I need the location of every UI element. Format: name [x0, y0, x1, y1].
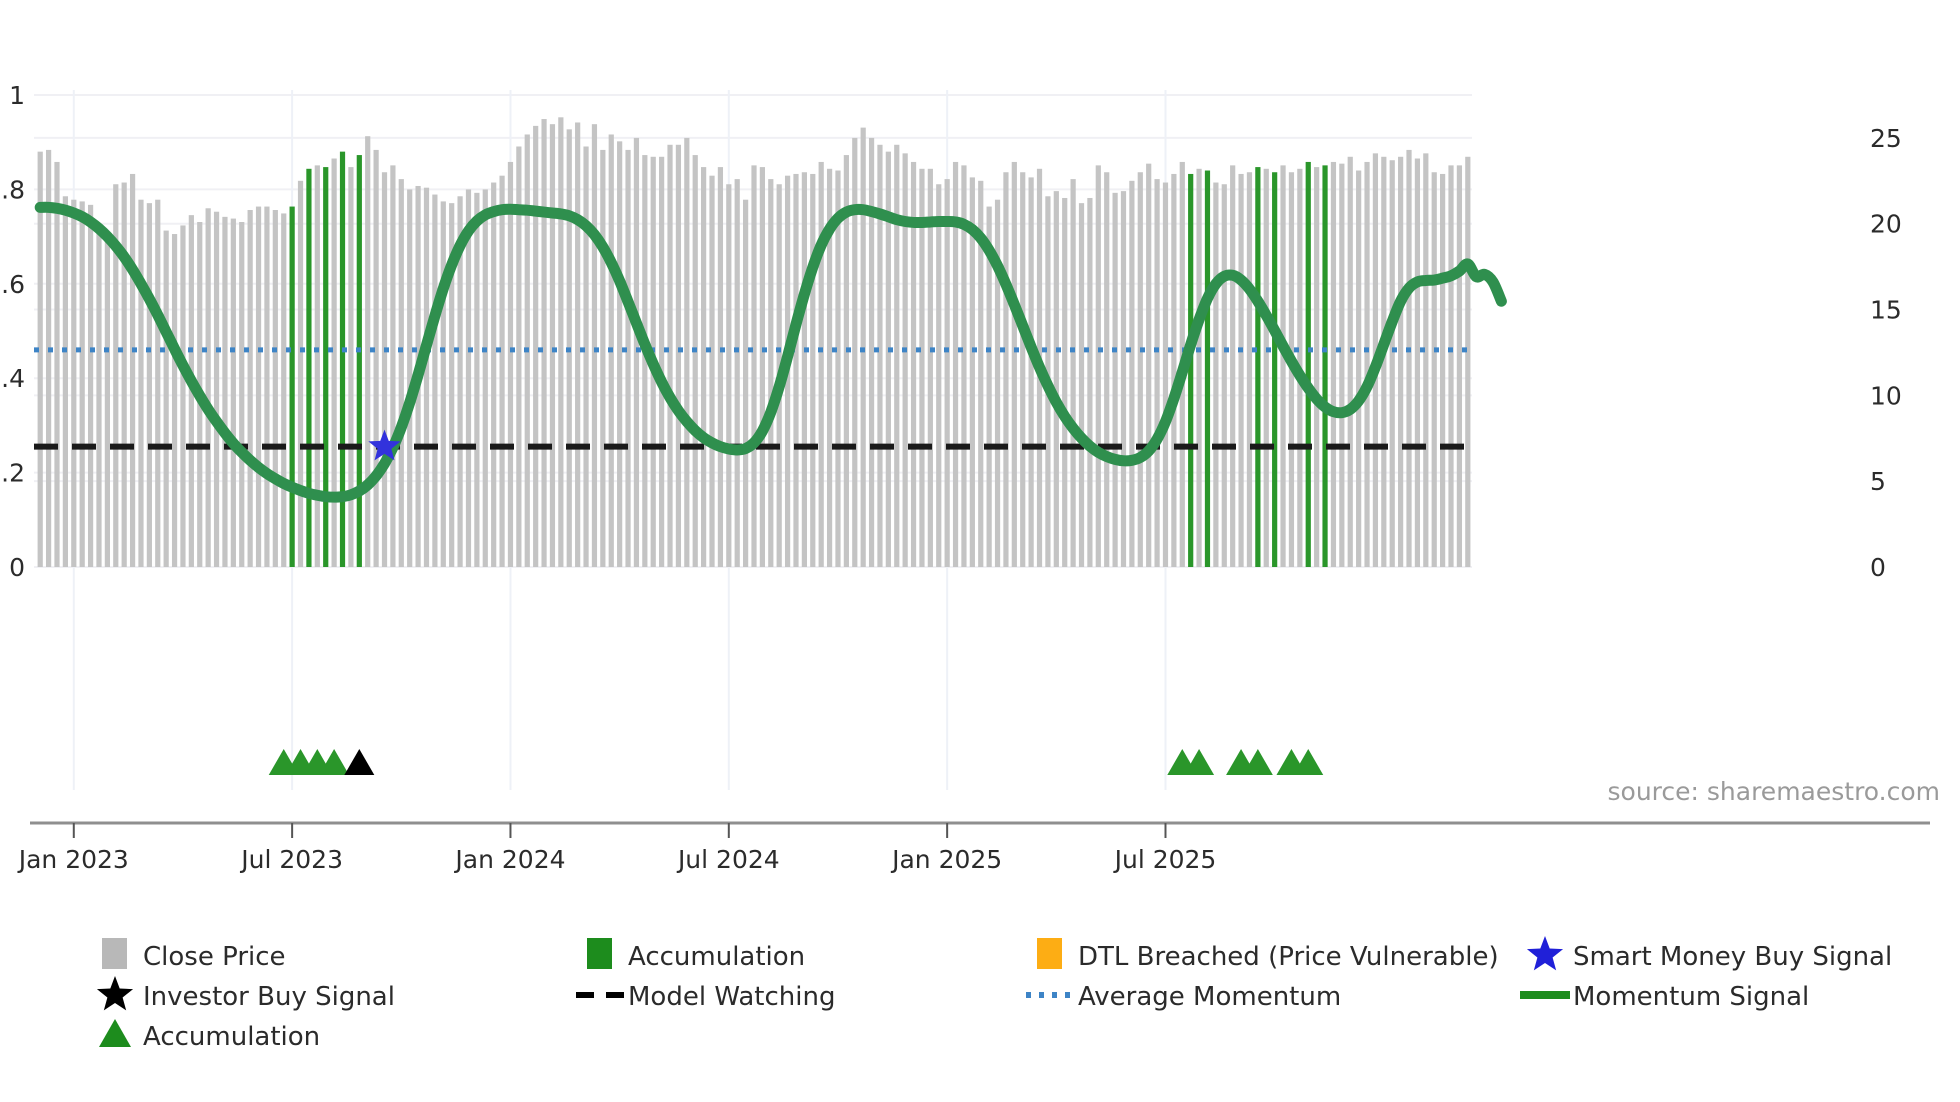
close-price-bar: [1230, 165, 1235, 567]
close-price-bar: [1280, 165, 1285, 567]
close-price-bar: [1129, 181, 1134, 567]
close-price-bar: [575, 122, 580, 567]
legend-square-icon: [587, 938, 612, 969]
close-price-bar: [743, 200, 748, 567]
close-price-bar: [1146, 164, 1151, 567]
close-price-bar: [1222, 184, 1227, 567]
close-price-bar: [852, 138, 857, 567]
close-price-bar: [231, 219, 236, 567]
close-price-bar: [315, 165, 320, 567]
close-price-bar: [1138, 172, 1143, 567]
close-price-bar: [138, 200, 143, 567]
close-price-bar: [164, 231, 169, 567]
close-price-bar: [1104, 172, 1109, 567]
close-price-bar: [130, 174, 135, 567]
close-price-bar: [1163, 183, 1168, 567]
right-axis: 0510152025: [1870, 124, 1902, 582]
legend-item-label: Average Momentum: [1078, 982, 1341, 1012]
accumulation-bar: [1272, 172, 1277, 567]
close-price-bar: [1238, 174, 1243, 567]
left-axis: 00.20.40.60.81: [0, 81, 25, 582]
close-price-bar: [718, 167, 723, 567]
close-price-bar: [1440, 174, 1445, 567]
accumulation-bar: [1306, 162, 1311, 567]
legend-item-label: DTL Breached (Price Vulnerable): [1078, 942, 1499, 972]
legend-item[interactable]: Investor Buy Signal: [97, 976, 395, 1012]
legend-item-label: Accumulation: [628, 942, 805, 972]
legend-star-icon: [97, 976, 133, 1010]
close-price-bar: [583, 146, 588, 567]
close-price-bar: [1398, 157, 1403, 567]
investor-buy-signal-triangle: [344, 749, 374, 775]
accumulation-bar: [340, 152, 345, 567]
close-price-bar: [861, 128, 866, 567]
close-price-bar: [332, 159, 337, 567]
close-price-bar: [1314, 167, 1319, 567]
close-price-bar: [1247, 172, 1252, 567]
legend-item-label: Close Price: [143, 942, 286, 972]
close-price-bar: [80, 201, 85, 567]
legend-item[interactable]: Accumulation: [99, 1019, 320, 1052]
close-price-bar: [374, 150, 379, 567]
close-price-bar: [735, 179, 740, 567]
close-price-bar: [466, 189, 471, 567]
close-price-bar: [1423, 153, 1428, 567]
close-price-bar: [558, 117, 563, 567]
left-axis-tick-label: 0.2: [0, 459, 25, 488]
close-price-bar: [382, 172, 387, 567]
close-price-bar: [155, 200, 160, 567]
x-axis-tick-label: Jul 2023: [239, 845, 343, 874]
close-price-bar: [1432, 172, 1437, 567]
close-price-bar: [617, 141, 622, 567]
close-price-bar: [659, 157, 664, 567]
close-price-bar: [768, 179, 773, 567]
close-price-bar: [180, 225, 185, 567]
close-price-bar: [793, 174, 798, 567]
close-price-bar: [625, 150, 630, 567]
close-price-bar: [1457, 165, 1462, 567]
legend-item-label: Momentum Signal: [1573, 982, 1809, 1012]
close-price-bar: [903, 153, 908, 567]
close-price-bar: [390, 165, 395, 567]
close-price-bar: [264, 207, 269, 567]
close-price-bar: [1154, 179, 1159, 567]
x-axis-tick-label: Jan 2024: [453, 845, 565, 874]
right-axis-tick-label: 10: [1870, 381, 1902, 410]
accumulation-bar: [1205, 171, 1210, 567]
close-price-bar: [348, 167, 353, 567]
close-price-bar: [1356, 171, 1361, 567]
legend-item-label: Model Watching: [628, 982, 835, 1012]
right-axis-tick-label: 20: [1870, 210, 1902, 239]
close-price-bar: [38, 152, 43, 567]
close-price-bar: [63, 196, 68, 567]
close-price-bar: [945, 179, 950, 567]
close-price-bar: [239, 222, 244, 567]
legend-square-icon: [102, 938, 127, 969]
close-price-bar: [1113, 193, 1118, 567]
momentum-chart: 00.20.40.60.810510152025source: sharemae…: [0, 0, 1960, 1102]
x-axis-tick-label: Jul 2025: [1113, 845, 1217, 874]
close-price-bar: [1415, 159, 1420, 567]
close-price-bar: [147, 203, 152, 567]
close-price-bar: [424, 188, 429, 567]
close-price-bar: [281, 213, 286, 567]
accumulation-bar: [1188, 174, 1193, 567]
close-price-bar: [399, 179, 404, 567]
legend-item[interactable]: Smart Money Buy Signal: [1527, 936, 1892, 972]
close-price-bar: [676, 145, 681, 567]
accumulation-bar: [323, 167, 328, 567]
close-price-bar: [1264, 169, 1269, 567]
accumulation-bar: [306, 169, 311, 567]
accumulation-bar: [290, 207, 295, 567]
close-price-bar: [726, 184, 731, 567]
close-price-bar: [1213, 183, 1218, 567]
close-price-bar: [751, 165, 756, 567]
right-axis-tick-label: 15: [1870, 296, 1902, 325]
close-price-bar: [105, 232, 110, 567]
source-note: source: sharemaestro.com: [1608, 777, 1941, 806]
close-price-bar: [88, 205, 93, 567]
close-price-bar: [810, 174, 815, 567]
close-price-bar: [709, 176, 714, 567]
close-price-bar: [491, 183, 496, 567]
close-price-bar: [256, 207, 261, 567]
close-price-bars: [38, 117, 1471, 567]
close-price-bar: [273, 210, 278, 567]
close-price-bar: [1390, 160, 1395, 567]
close-price-bar: [1062, 198, 1067, 567]
accumulation-bar: [1322, 165, 1327, 567]
close-price-bar: [298, 181, 303, 567]
close-price-bar: [684, 138, 689, 567]
close-price-bar: [222, 217, 227, 567]
legend-item[interactable]: Model Watching: [576, 982, 835, 1012]
close-price-bar: [1339, 164, 1344, 567]
close-price-bar: [508, 162, 513, 567]
x-axis-tick-label: Jul 2024: [676, 845, 780, 874]
close-price-bar: [206, 208, 211, 567]
left-axis-tick-label: 0.4: [0, 364, 25, 393]
chart-canvas: 00.20.40.60.810510152025source: sharemae…: [0, 0, 1960, 1102]
close-price-bar: [1364, 162, 1369, 567]
close-price-bar: [802, 172, 807, 567]
close-price-bar: [1071, 179, 1076, 567]
left-axis-tick-label: 0.6: [0, 270, 25, 299]
close-price-bar: [1003, 172, 1008, 567]
close-price-bar: [1096, 165, 1101, 567]
close-price-bar: [1079, 203, 1084, 567]
legend-item-label: Smart Money Buy Signal: [1573, 942, 1892, 972]
x-axis: Jan 2023Jul 2023Jan 2024Jul 2024Jan 2025…: [17, 823, 1217, 874]
close-price-bar: [1054, 191, 1059, 567]
close-price-bar: [441, 201, 446, 567]
close-price-bar: [1331, 162, 1336, 567]
close-price-bar: [701, 167, 706, 567]
legend-item[interactable]: Accumulation: [587, 938, 805, 972]
legend-item[interactable]: DTL Breached (Price Vulnerable): [1037, 938, 1499, 972]
close-price-bar: [667, 145, 672, 567]
close-price-bar: [432, 195, 437, 567]
legend-square-icon: [1037, 938, 1062, 969]
accumulation-bar: [1255, 167, 1260, 567]
close-price-bar: [1012, 162, 1017, 567]
legend-item-label: Accumulation: [143, 1022, 320, 1052]
close-price-bar: [693, 155, 698, 567]
legend-item[interactable]: Average Momentum: [1026, 982, 1341, 1012]
right-axis-tick-label: 0: [1870, 553, 1886, 582]
close-price-bar: [1348, 157, 1353, 567]
right-axis-tick-label: 25: [1870, 124, 1902, 153]
close-price-bar: [1406, 150, 1411, 567]
close-price-bar: [550, 124, 555, 567]
close-price-bar: [483, 189, 488, 567]
close-price-bar: [1121, 191, 1126, 567]
right-axis-tick-label: 5: [1870, 467, 1886, 496]
close-price-bar: [214, 212, 219, 567]
close-price-bar: [122, 183, 127, 567]
close-price-bar: [760, 167, 765, 567]
close-price-bar: [71, 200, 76, 567]
close-price-bar: [919, 169, 924, 567]
left-axis-tick-label: 1: [9, 81, 25, 110]
close-price-bar: [835, 171, 840, 567]
close-price-bar: [928, 169, 933, 567]
close-price-bar: [819, 162, 824, 567]
close-price-bar: [1020, 172, 1025, 567]
close-price-bar: [1029, 177, 1034, 567]
close-price-bar: [172, 234, 177, 567]
left-axis-tick-label: 0: [9, 553, 25, 582]
close-price-bar: [600, 150, 605, 567]
close-price-bar: [936, 184, 941, 567]
close-price-bar: [54, 162, 59, 567]
left-axis-tick-label: 0.8: [0, 175, 25, 204]
close-price-bar: [869, 138, 874, 567]
legend-item[interactable]: Close Price: [102, 938, 286, 972]
close-price-bar: [894, 145, 899, 567]
close-price-bar: [541, 119, 546, 567]
accumulation-bar: [357, 155, 362, 567]
legend-triangle-icon: [99, 1019, 131, 1047]
close-price-bar: [634, 138, 639, 567]
legend: Close PriceAccumulationDTL Breached (Pri…: [97, 936, 1892, 1052]
close-price-bar: [533, 126, 538, 567]
x-axis-tick-label: Jan 2025: [890, 845, 1002, 874]
legend-item[interactable]: Momentum Signal: [1520, 982, 1809, 1012]
close-price-bar: [474, 193, 479, 567]
close-price-bar: [248, 210, 253, 567]
close-price-bar: [1196, 169, 1201, 567]
close-price-bar: [365, 136, 370, 567]
x-axis-tick-label: Jan 2023: [17, 845, 129, 874]
close-price-bar: [499, 176, 504, 567]
close-price-bar: [592, 124, 597, 567]
close-price-bar: [96, 227, 101, 567]
close-price-bar: [1465, 157, 1470, 567]
close-price-bar: [1448, 165, 1453, 567]
legend-item-label: Investor Buy Signal: [143, 982, 395, 1012]
close-price-bar: [1087, 198, 1092, 567]
legend-star-icon: [1527, 936, 1563, 970]
close-price-bar: [1171, 174, 1176, 567]
